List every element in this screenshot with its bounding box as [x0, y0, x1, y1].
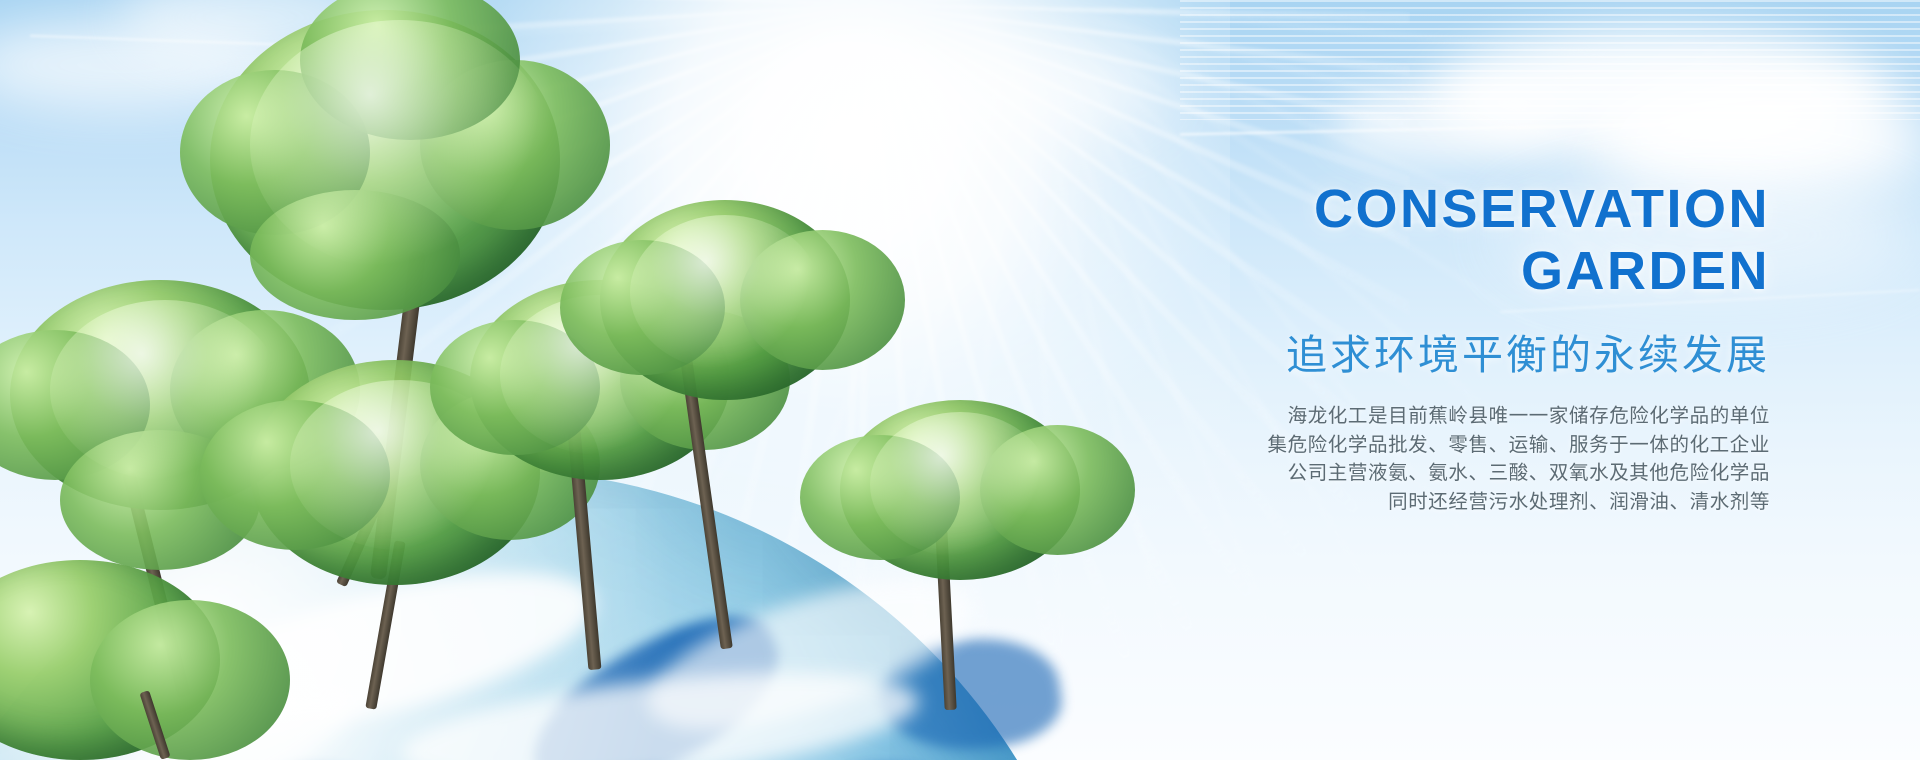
tree-highlight	[870, 412, 1050, 557]
page-title: CONSERVATION GARDEN	[1080, 178, 1770, 302]
tree-foliage	[90, 600, 290, 760]
description-line-4: 同时还经营污水处理剂、润滑油、清水剂等	[1080, 488, 1770, 517]
description-line-1: 海龙化工是目前蕉岭县唯一一家储存危险化学品的单位	[1080, 402, 1770, 431]
headline-line-1: CONSERVATION	[1314, 179, 1770, 239]
hero-banner: CONSERVATION GARDEN 追求环境平衡的永续发展 海龙化工是目前蕉…	[0, 0, 1920, 760]
headline-line-2: GARDEN	[1080, 240, 1770, 302]
subheadline: 追求环境平衡的永续发展	[1080, 330, 1770, 380]
description-block: 海龙化工是目前蕉岭县唯一一家储存危险化学品的单位 集危险化学品批发、零售、运输、…	[1080, 402, 1770, 516]
hero-copy: CONSERVATION GARDEN 追求环境平衡的永续发展 海龙化工是目前蕉…	[1080, 178, 1770, 516]
tree-highlight	[250, 20, 550, 270]
description-line-2: 集危险化学品批发、零售、运输、服务于一体的化工企业	[1080, 431, 1770, 460]
tree-highlight	[630, 215, 820, 370]
description-line-3: 公司主营液氨、氨水、三酸、双氧水及其他危险化学品	[1080, 459, 1770, 488]
